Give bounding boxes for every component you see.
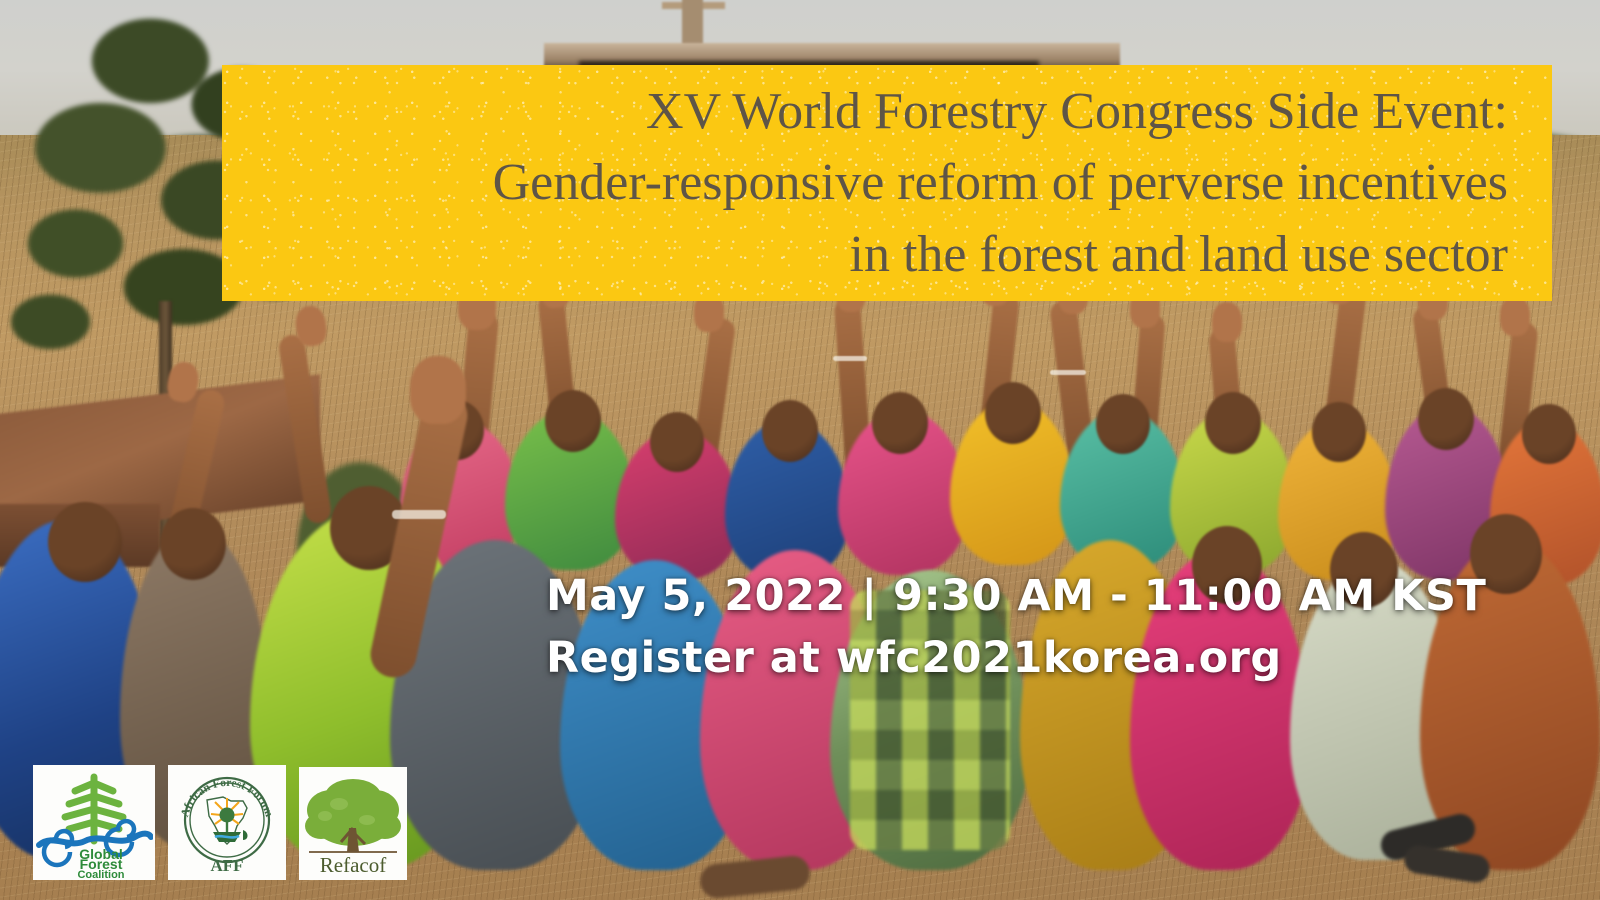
event-details: May 5, 2022 | 9:30 AM - 11:00 AM KST Reg… (546, 566, 1546, 690)
event-registration: Register at wfc2021korea.org (546, 628, 1546, 690)
hand (410, 356, 466, 424)
bare-feet (699, 854, 812, 899)
svg-text:Coalition: Coalition (77, 869, 124, 879)
hand (1212, 302, 1242, 342)
tree-and-water-spiral-icon: Global Forest Coalition (35, 767, 153, 879)
africa-map-sun-tree-seal-icon: African Forest Forum AFF (171, 768, 283, 878)
head (1522, 404, 1576, 464)
partner-logos: Global Forest Coalition African Forest F… (33, 765, 407, 880)
head (985, 382, 1041, 444)
title-line-3: in the forest and land use sector (252, 219, 1508, 290)
title-banner: XV World Forestry Congress Side Event: G… (222, 65, 1552, 301)
building (544, 4, 1120, 67)
raised-arm (277, 333, 332, 525)
head (160, 508, 226, 580)
event-datetime: May 5, 2022 | 9:30 AM - 11:00 AM KST (546, 566, 1546, 628)
head (872, 392, 928, 454)
svg-text:Refacof: Refacof (320, 853, 386, 877)
bangle (833, 356, 867, 361)
svg-text:AFF: AFF (210, 856, 243, 875)
head (48, 502, 122, 582)
head (650, 412, 704, 472)
title-line-2: Gender-responsive reform of perverse inc… (252, 147, 1508, 218)
head (762, 400, 818, 462)
hand (165, 360, 201, 405)
head (1312, 402, 1366, 462)
head (1418, 388, 1474, 450)
logo-refacof[interactable]: Refacof (299, 767, 407, 880)
head (545, 390, 601, 452)
head (1096, 394, 1150, 454)
bangle (1050, 370, 1086, 375)
logo-global-forest-coalition[interactable]: Global Forest Coalition (33, 765, 155, 880)
event-poster: XV World Forestry Congress Side Event: G… (0, 0, 1600, 900)
hand (1500, 296, 1530, 336)
logo-african-forest-forum[interactable]: African Forest Forum AFF (168, 765, 286, 880)
rooftop-pillar (682, 0, 703, 45)
bangle (392, 510, 446, 519)
title-banner-inner: XV World Forestry Congress Side Event: G… (222, 76, 1552, 290)
head (1205, 392, 1261, 454)
title-line-1: XV World Forestry Congress Side Event: (252, 76, 1508, 147)
broad-tree-icon: Refacof (301, 770, 405, 878)
